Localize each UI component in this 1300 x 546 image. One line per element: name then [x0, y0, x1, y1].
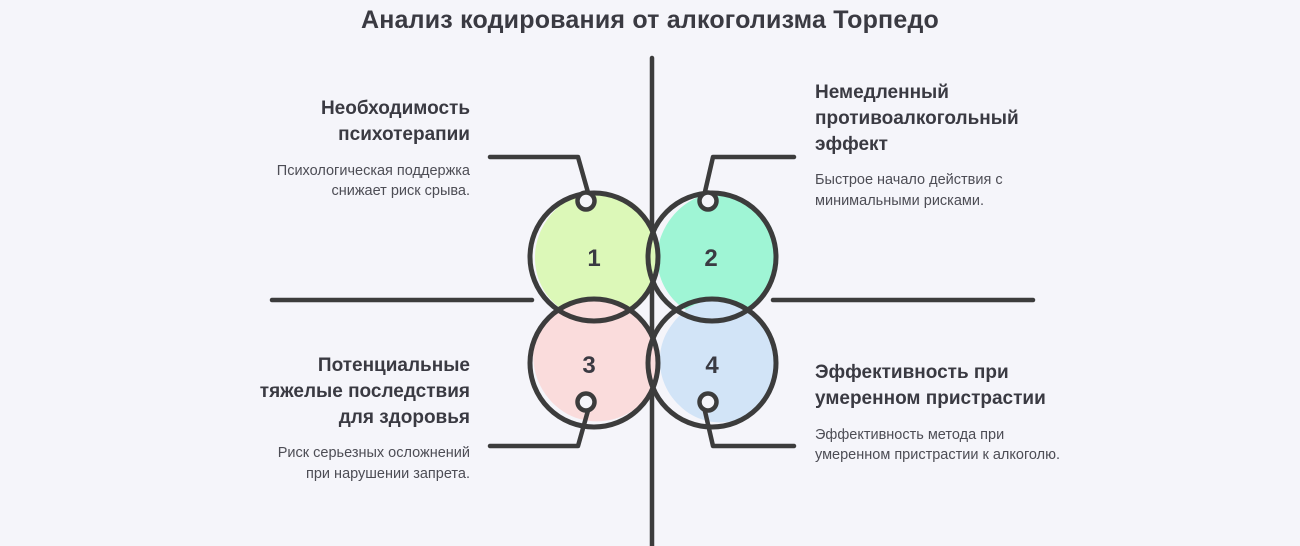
callout-heading-1: Необходимость психотерапии	[250, 96, 470, 148]
circle-fill-4	[645, 290, 795, 440]
connector-node-1	[578, 193, 595, 210]
circle-number-4: 4	[705, 352, 719, 379]
circle-number-2: 2	[704, 245, 717, 272]
callout-heading-4: Эффективность при умеренном пристрастии	[815, 360, 1065, 412]
connector-node-4	[700, 394, 717, 411]
connector-node-3	[578, 394, 595, 411]
infographic-canvas: Анализ кодирования от алкоголизма Торпед…	[0, 0, 1300, 546]
callout-heading-2: Немедленный противоалкогольный эффект	[815, 80, 1065, 157]
callout-bottom-left: Потенциальные тяжелые последствия для зд…	[250, 353, 470, 485]
callout-heading-3: Потенциальные тяжелые последствия для зд…	[250, 353, 470, 430]
circle-number-3: 3	[582, 352, 595, 379]
callout-body-3: Риск серьезных осложнений при нарушении …	[250, 443, 470, 484]
callout-body-4: Эффективность метода при умеренном прист…	[815, 425, 1065, 466]
circle-number-1: 1	[587, 245, 600, 272]
connector-node-2	[700, 193, 717, 210]
callout-top-left: Необходимость психотерапии Психологическ…	[250, 96, 470, 202]
diagram-svg: 1 2 3 4	[0, 0, 1300, 546]
callout-body-2: Быстрое начало действия с минимальными р…	[815, 170, 1065, 211]
callout-bottom-right: Эффективность при умеренном пристрастии …	[815, 360, 1065, 466]
connector-line-2	[704, 157, 794, 196]
connector-line-1	[490, 157, 589, 196]
callout-top-right: Немедленный противоалкогольный эффект Бы…	[815, 80, 1065, 212]
callout-body-1: Психологическая поддержка снижает риск с…	[250, 161, 470, 202]
